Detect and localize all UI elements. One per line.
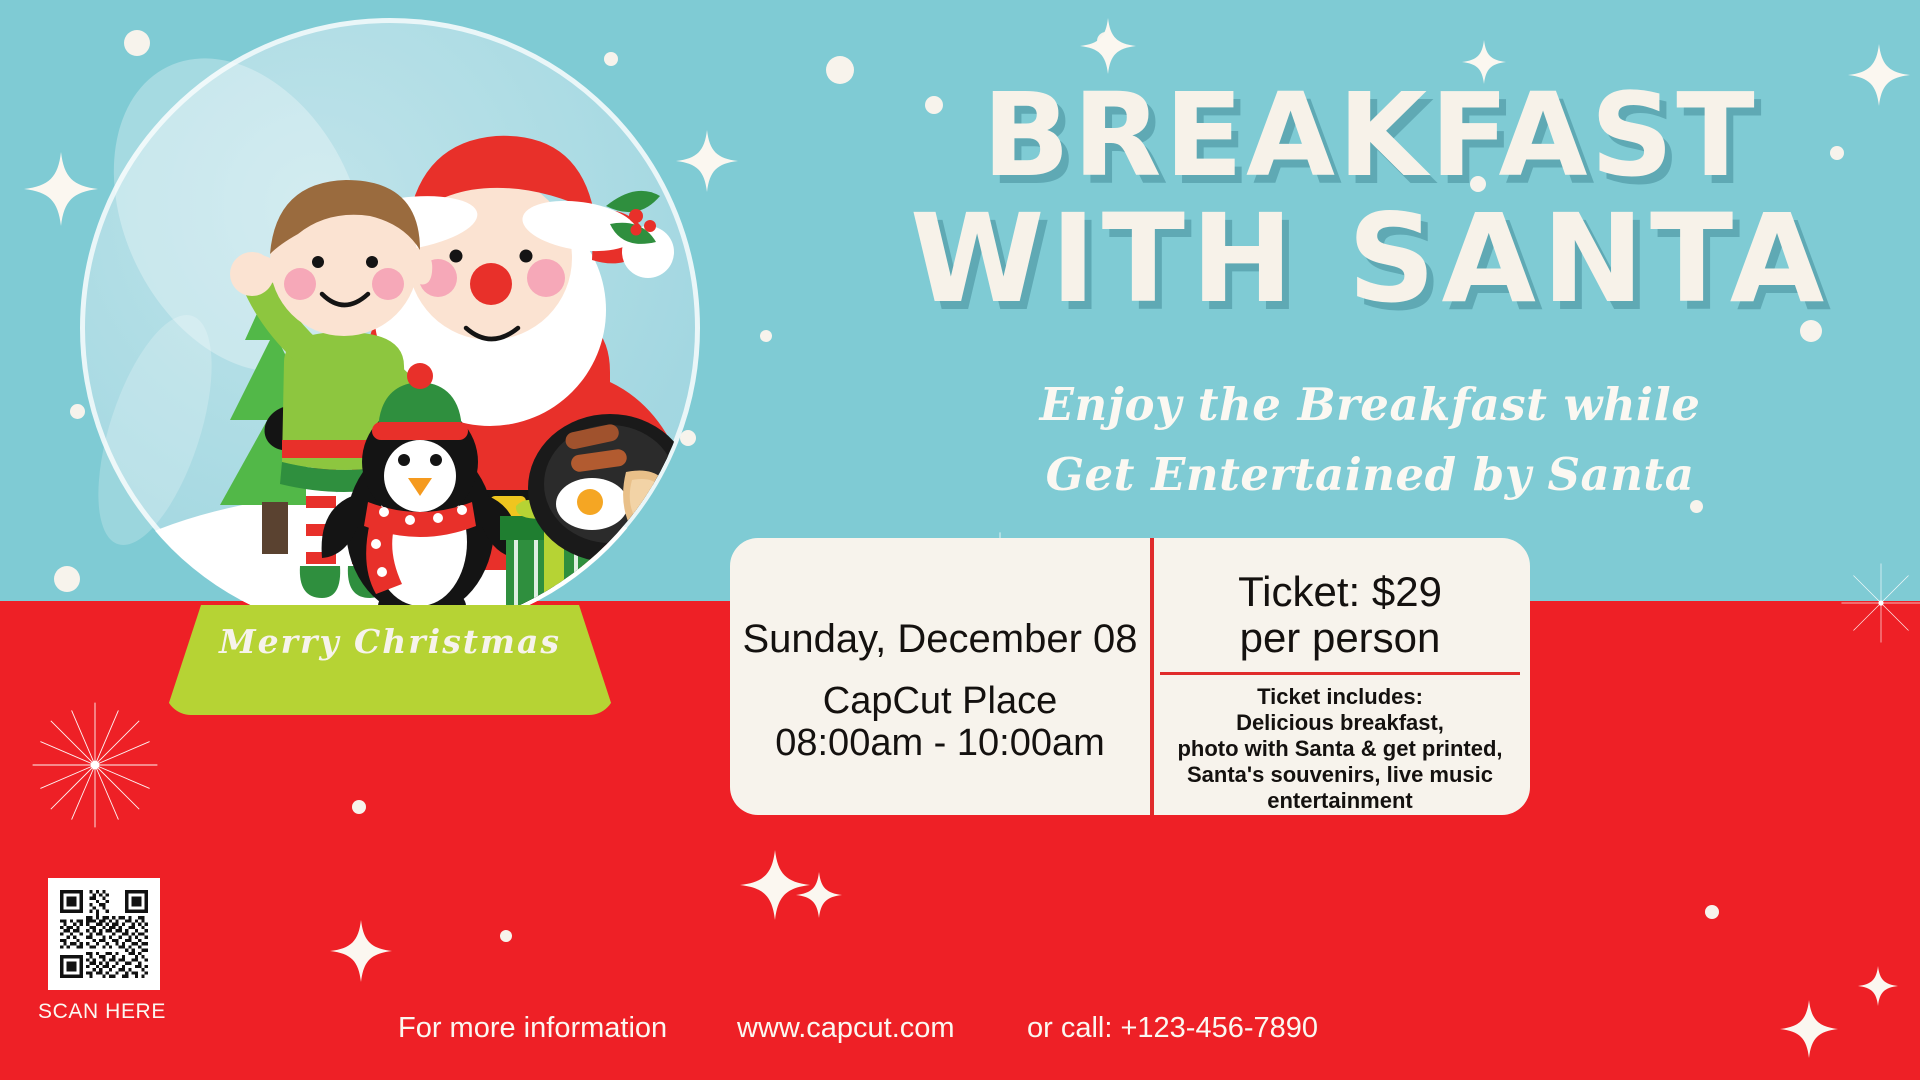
sparkle-icon <box>1080 18 1136 74</box>
ticket-includes-line-3: Santa's souvenirs, live music <box>1150 762 1530 788</box>
qr-code[interactable] <box>48 878 160 990</box>
snow-dot <box>760 330 772 342</box>
ticket-includes-line-4: entertainment <box>1150 788 1530 814</box>
more-info-label: For more information <box>398 1012 667 1045</box>
scan-here-label: SCAN HERE <box>38 1000 198 1024</box>
snow-globe-illustration: Merry Christmas <box>70 10 730 720</box>
ticket-includes-line-2: photo with Santa & get printed, <box>1150 736 1530 762</box>
globe-base-label: Merry Christmas <box>165 622 615 661</box>
event-date: Sunday, December 08 <box>730 617 1150 662</box>
ticket-includes-line-1: Delicious breakfast, <box>1150 710 1530 736</box>
subtitle-line-2: Get Entertained by Santa <box>850 440 1890 510</box>
globe-scene <box>70 10 730 660</box>
starburst-icon <box>1838 560 1920 646</box>
event-details-card <box>730 538 1150 815</box>
ticket-price-line-1: Ticket: $29 <box>1150 568 1530 616</box>
ticket-includes-heading: Ticket includes: <box>1150 684 1530 710</box>
snow-dot <box>500 930 512 942</box>
sparkle-icon <box>796 872 842 918</box>
title-block: BREAKFAST WITH SANTA <box>850 78 1890 322</box>
snow-dot <box>352 800 366 814</box>
website-link[interactable]: www.capcut.com <box>737 1012 955 1045</box>
snow-dot <box>1705 905 1719 919</box>
sparkle-icon <box>1858 966 1898 1006</box>
poster-canvas: Merry Christmas BREAKFAST WITH SANTA Enj… <box>0 0 1920 1080</box>
subtitle-block: Enjoy the Breakfast while Get Entertaine… <box>850 370 1890 510</box>
ticket-horizontal-divider <box>1160 672 1520 675</box>
subtitle-line-1: Enjoy the Breakfast while <box>850 370 1890 440</box>
sparkle-icon <box>330 920 392 982</box>
title-line-1: BREAKFAST <box>850 78 1890 195</box>
event-time: 08:00am - 10:00am <box>730 722 1150 765</box>
breakfast-skillet <box>528 414 726 562</box>
event-venue: CapCut Place <box>730 680 1150 723</box>
sparkle-icon <box>1780 1000 1838 1058</box>
phone-number[interactable]: or call: +123-456-7890 <box>1027 1012 1318 1045</box>
title-line-2: WITH SANTA <box>850 197 1890 321</box>
ticket-price-line-2: per person <box>1150 614 1530 662</box>
